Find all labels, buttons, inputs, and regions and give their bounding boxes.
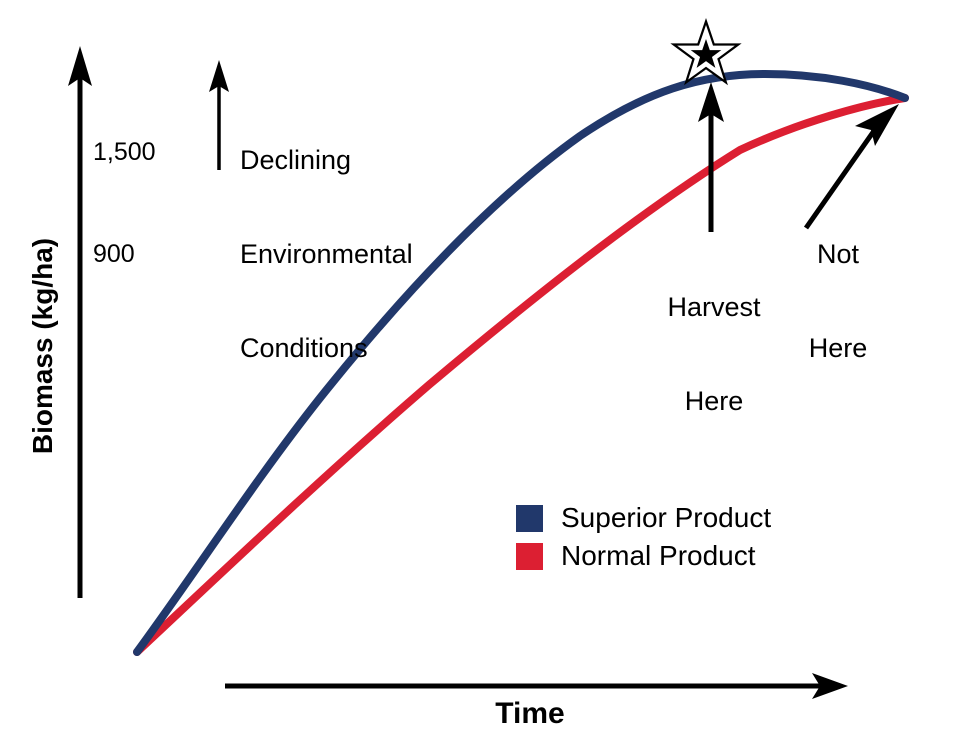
not-here-line-2: Here: [778, 333, 898, 364]
declining-conditions-line-2: Environmental: [240, 239, 413, 270]
x-axis: [225, 673, 848, 699]
legend-swatch-superior-product: [516, 505, 543, 532]
not-here-label: Not Here: [778, 176, 898, 427]
star-icon: [684, 32, 728, 74]
legend-swatch-normal-product: [516, 543, 543, 570]
declining-conditions-line-1: Declining: [240, 145, 413, 176]
legend-item-normal-product: Normal Product: [516, 537, 771, 575]
y-tick-label-upper: 1,500: [93, 139, 156, 166]
y-axis-title: Biomass (kg/ha): [28, 176, 68, 516]
declining-conditions-line-3: Conditions: [240, 333, 413, 364]
chart-figure: 1,500 900 Biomass (kg/ha) Declining Envi…: [0, 0, 960, 754]
harvest-pointer-arrow-icon: [698, 82, 724, 232]
declining-conditions-arrow-icon: [209, 60, 229, 170]
x-axis-title: Time: [330, 698, 730, 730]
not-here-line-1: Not: [778, 239, 898, 270]
legend-label-normal-product: Normal Product: [561, 540, 756, 572]
declining-conditions-label: Declining Environmental Conditions: [240, 82, 413, 426]
y-tick-label-lower: 900: [93, 241, 135, 268]
legend-item-superior-product: Superior Product: [516, 499, 771, 537]
y-axis: [68, 46, 92, 598]
chart-legend: Superior Product Normal Product: [516, 499, 771, 575]
legend-label-superior-product: Superior Product: [561, 502, 771, 534]
